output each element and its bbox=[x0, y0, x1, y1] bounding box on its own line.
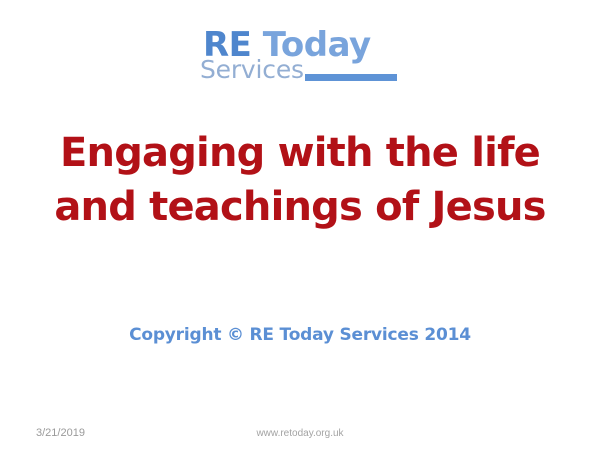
logo-underline-bar bbox=[305, 74, 397, 81]
logo-inner: RE Today Services bbox=[195, 26, 405, 98]
copyright-notice: Copyright © RE Today Services 2014 bbox=[0, 324, 600, 346]
logo-word-services: Services bbox=[200, 56, 304, 84]
footer-url: www.retoday.org.uk bbox=[0, 427, 600, 441]
slide-footer: 3/21/2019 www.retoday.org.uk bbox=[0, 425, 600, 441]
re-today-logo: RE Today Services bbox=[0, 26, 600, 98]
slide-title: Engaging with the life and teachings of … bbox=[20, 126, 580, 234]
slide-title-line-1: Engaging with the life bbox=[20, 126, 580, 180]
presentation-slide: RE Today Services Engaging with the life… bbox=[0, 0, 600, 450]
slide-title-line-2: and teachings of Jesus bbox=[20, 180, 580, 234]
